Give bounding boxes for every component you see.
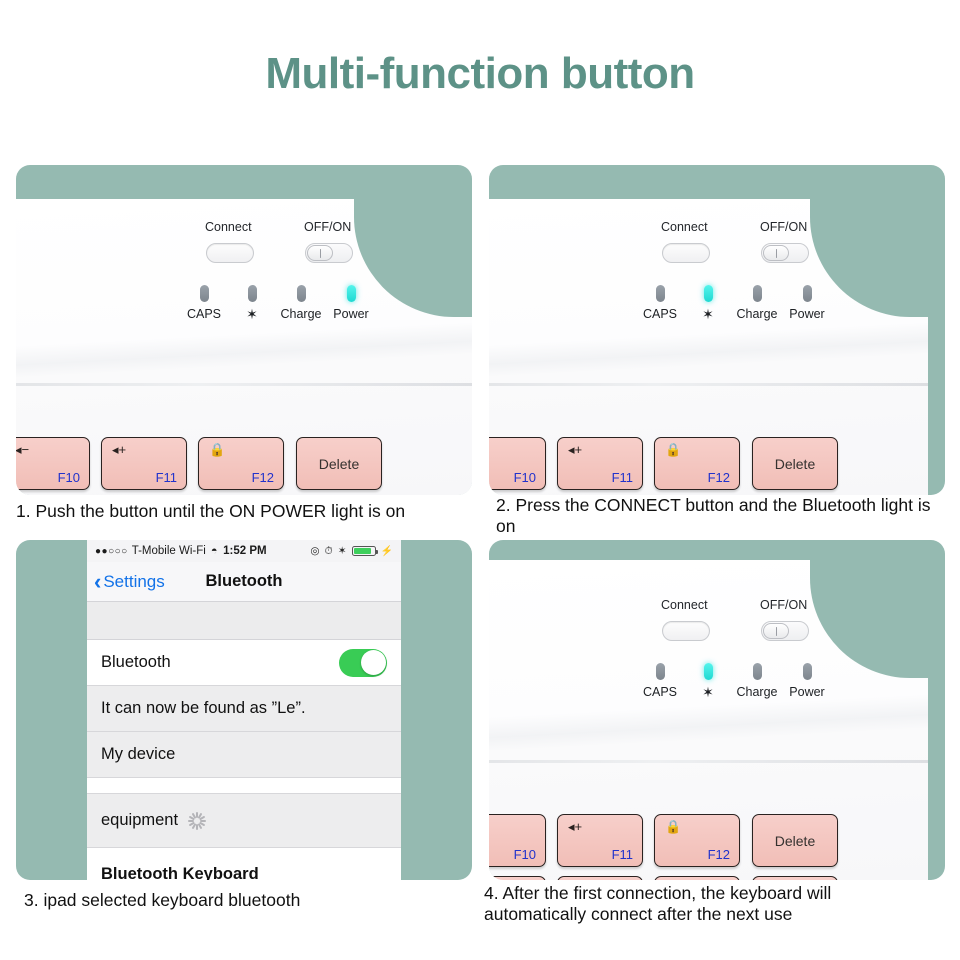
my-device-label: My device — [101, 745, 175, 764]
led-bluetooth: ✶ — [682, 663, 734, 699]
key-f12[interactable]: 🔒 F12 — [654, 437, 740, 490]
lock-icon: 🔒 — [665, 443, 681, 456]
page-title: Multi-function button — [0, 0, 960, 96]
led-indicators-4: CAPS ✶ Charge Power — [634, 663, 874, 719]
power-switch[interactable] — [761, 243, 809, 263]
row-bluetooth-keyboard[interactable]: Bluetooth Keyboard — [87, 848, 401, 880]
location-icon: ◎ — [310, 545, 319, 557]
led-power: Power — [325, 285, 377, 321]
led-caps: CAPS — [178, 285, 230, 321]
step-panel-2: Connect OFF/ON CAPS ✶ Charge — [489, 165, 945, 495]
key-delete-label: Delete — [753, 456, 837, 472]
led-charge: Charge — [731, 285, 783, 321]
carrier-label: T-Mobile Wi-Fi — [132, 545, 206, 557]
keyboard-photo-1: Connect OFF/ON CAPS ✶ Charge — [16, 199, 472, 495]
device-name-label: Bluetooth Keyboard — [101, 865, 259, 880]
chevron-left-icon: ‹ — [94, 573, 101, 591]
led-caps: CAPS — [634, 285, 686, 321]
ios-bluetooth-screen: ●●○○○ T-Mobile Wi-Fi ◓ 1:52 PM ◎ ⏱ ✶ ⚡ ‹… — [87, 540, 401, 880]
led-indicators-1: CAPS ✶ Charge Power — [178, 285, 418, 341]
row-bluetooth-toggle[interactable]: Bluetooth — [87, 640, 401, 686]
key-delete-label: Delete — [753, 833, 837, 849]
equipment-label: equipment — [101, 811, 178, 830]
key-delete[interactable]: Delete — [752, 814, 838, 867]
key-f11-label: F11 — [612, 847, 633, 862]
key-f11[interactable]: ◂+ F11 — [557, 814, 643, 867]
led-indicators-2: CAPS ✶ Charge Power — [634, 285, 874, 341]
key-delete[interactable]: Delete — [752, 437, 838, 490]
volume-up-icon: ◂+ — [568, 443, 582, 456]
power-switch-knob[interactable] — [763, 245, 789, 261]
battery-icon — [352, 546, 376, 557]
onoff-label: OFF/ON — [760, 598, 807, 612]
back-label: Settings — [103, 572, 164, 592]
bluetooth-row-label: Bluetooth — [101, 653, 171, 672]
lightning-bolt-icon: ⚡ — [381, 546, 393, 557]
volume-up-icon: ◂+ — [568, 820, 582, 833]
step-panel-1: Connect OFF/ON CAPS ✶ Charge — [16, 165, 472, 495]
charge-led-icon — [753, 285, 762, 302]
key-f12-label: F12 — [708, 470, 730, 485]
key-f10-label: F10 — [514, 470, 536, 485]
led-bluetooth: ✶ — [226, 285, 278, 321]
row-my-device-header: My device — [87, 732, 401, 778]
volume-up-icon: ◂+ — [112, 443, 126, 456]
key-f11-label: F11 — [156, 470, 177, 485]
step-4-caption: 4. After the first connection, the keybo… — [484, 883, 936, 926]
led-bluetooth: ✶ — [682, 285, 734, 321]
lock-icon: 🔒 — [665, 820, 681, 833]
key-row2-d[interactable] — [752, 876, 838, 880]
key-f10[interactable]: ◂− F10 — [489, 437, 546, 490]
key-f10-label: F10 — [514, 847, 536, 862]
connect-label: Connect — [661, 598, 708, 612]
led-charge: Charge — [275, 285, 327, 321]
power-switch-knob[interactable] — [307, 245, 333, 261]
bluetooth-icon: ✶ — [338, 545, 347, 557]
status-right-icons: ◎ ⏱ ✶ ⚡ — [310, 545, 393, 558]
step-panel-4: Connect OFF/ON CAPS ✶ Charge — [489, 540, 945, 880]
led-caps: CAPS — [634, 663, 686, 699]
keyboard-photo-4: Connect OFF/ON CAPS ✶ Charge — [489, 560, 928, 880]
connect-label: Connect — [205, 220, 252, 234]
key-f12-label: F12 — [252, 470, 274, 485]
alarm-icon: ⏱ — [325, 545, 333, 558]
connect-button[interactable] — [662, 243, 710, 263]
led-power: Power — [781, 663, 833, 699]
step-1-caption: 1. Push the button until the ON POWER li… — [16, 501, 476, 522]
power-led-icon — [803, 285, 812, 302]
connect-button[interactable] — [206, 243, 254, 263]
status-clock: 1:52 PM — [223, 545, 266, 557]
bluetooth-led-icon — [704, 663, 713, 680]
connect-label: Connect — [661, 220, 708, 234]
connect-button[interactable] — [662, 621, 710, 641]
key-f11-label: F11 — [612, 470, 633, 485]
caps-led-icon — [656, 663, 665, 680]
power-led-icon — [347, 285, 356, 302]
power-switch-knob[interactable] — [763, 623, 789, 639]
keyboard-seam — [16, 383, 472, 386]
power-led-icon — [803, 663, 812, 680]
key-f11[interactable]: ◂+ F11 — [101, 437, 187, 490]
key-f10-label: F10 — [58, 470, 80, 485]
key-row2-a[interactable] — [489, 876, 546, 880]
key-row2-b[interactable] — [557, 876, 643, 880]
bluetooth-led-icon — [704, 285, 713, 302]
bluetooth-led-icon — [248, 285, 257, 302]
onoff-label: OFF/ON — [760, 220, 807, 234]
row-found-as: It can now be found as ”Le”. — [87, 686, 401, 732]
step-panel-3: ●●○○○ T-Mobile Wi-Fi ◓ 1:52 PM ◎ ⏱ ✶ ⚡ ‹… — [16, 540, 472, 880]
key-f12[interactable]: 🔒 F12 — [198, 437, 284, 490]
key-f10[interactable]: ◂− F10 — [16, 437, 90, 490]
key-f12-label: F12 — [708, 847, 730, 862]
power-switch[interactable] — [761, 621, 809, 641]
key-row2-c[interactable] — [654, 876, 740, 880]
step-3-caption: 3. ipad selected keyboard bluetooth — [24, 890, 474, 911]
charge-led-icon — [297, 285, 306, 302]
activity-spinner-icon — [187, 811, 207, 831]
charge-led-icon — [753, 663, 762, 680]
ios-list-separator — [87, 778, 401, 794]
key-delete-label: Delete — [297, 456, 381, 472]
keyboard-photo-2: Connect OFF/ON CAPS ✶ Charge — [489, 199, 928, 495]
led-power: Power — [781, 285, 833, 321]
key-f11[interactable]: ◂+ F11 — [557, 437, 643, 490]
back-to-settings-button[interactable]: ‹ Settings — [94, 572, 165, 592]
onoff-label: OFF/ON — [304, 220, 351, 234]
keyboard-seam — [489, 760, 928, 763]
row-equipment-header: equipment — [87, 794, 401, 848]
led-charge: Charge — [731, 663, 783, 699]
keyboard-seam — [489, 383, 928, 386]
ios-section-gap — [87, 602, 401, 640]
ios-nav-bar: ‹ Settings Bluetooth — [87, 562, 401, 602]
volume-down-icon: ◂− — [16, 443, 29, 456]
found-as-label: It can now be found as ”Le”. — [101, 699, 306, 718]
signal-dots-icon: ●●○○○ — [95, 546, 128, 557]
key-f12[interactable]: 🔒 F12 — [654, 814, 740, 867]
step-2-caption: 2. Press the CONNECT button and the Blue… — [496, 495, 936, 538]
ios-status-bar: ●●○○○ T-Mobile Wi-Fi ◓ 1:52 PM ◎ ⏱ ✶ ⚡ — [87, 540, 401, 562]
key-delete[interactable]: Delete — [296, 437, 382, 490]
key-f10[interactable]: ◂− F10 — [489, 814, 546, 867]
bluetooth-switch[interactable] — [339, 649, 387, 677]
lock-icon: 🔒 — [209, 443, 225, 456]
power-switch[interactable] — [305, 243, 353, 263]
caps-led-icon — [200, 285, 209, 302]
wifi-icon: ◓ — [211, 545, 218, 557]
caps-led-icon — [656, 285, 665, 302]
